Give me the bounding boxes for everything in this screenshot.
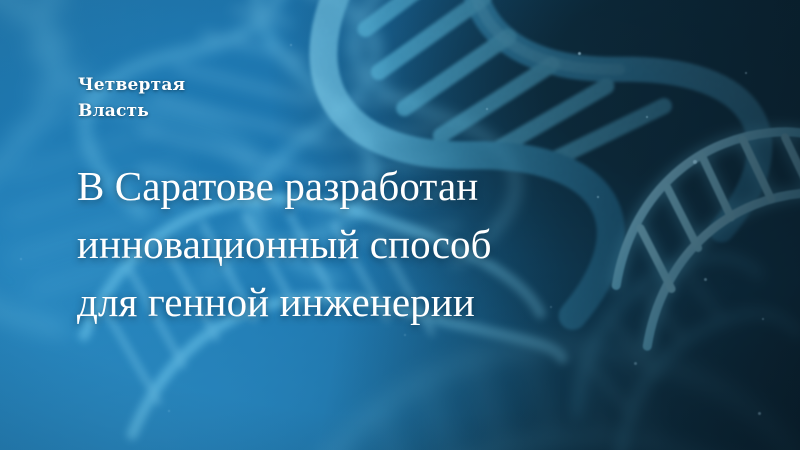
article-headline[interactable]: В Саратове разработан инновационный спос… xyxy=(77,157,717,331)
headline-line-3: для генной инженерии xyxy=(77,273,717,331)
headline-line-1: В Саратове разработан xyxy=(77,157,717,215)
site-logo-line1: Четвертая xyxy=(78,72,185,98)
headline-line-2: инновационный способ xyxy=(77,215,717,273)
site-logo-line2: Власть xyxy=(78,98,185,124)
site-logo[interactable]: Четвертая Власть xyxy=(78,72,185,124)
article-share-card: Четвертая Власть В Саратове разработан и… xyxy=(0,0,800,450)
